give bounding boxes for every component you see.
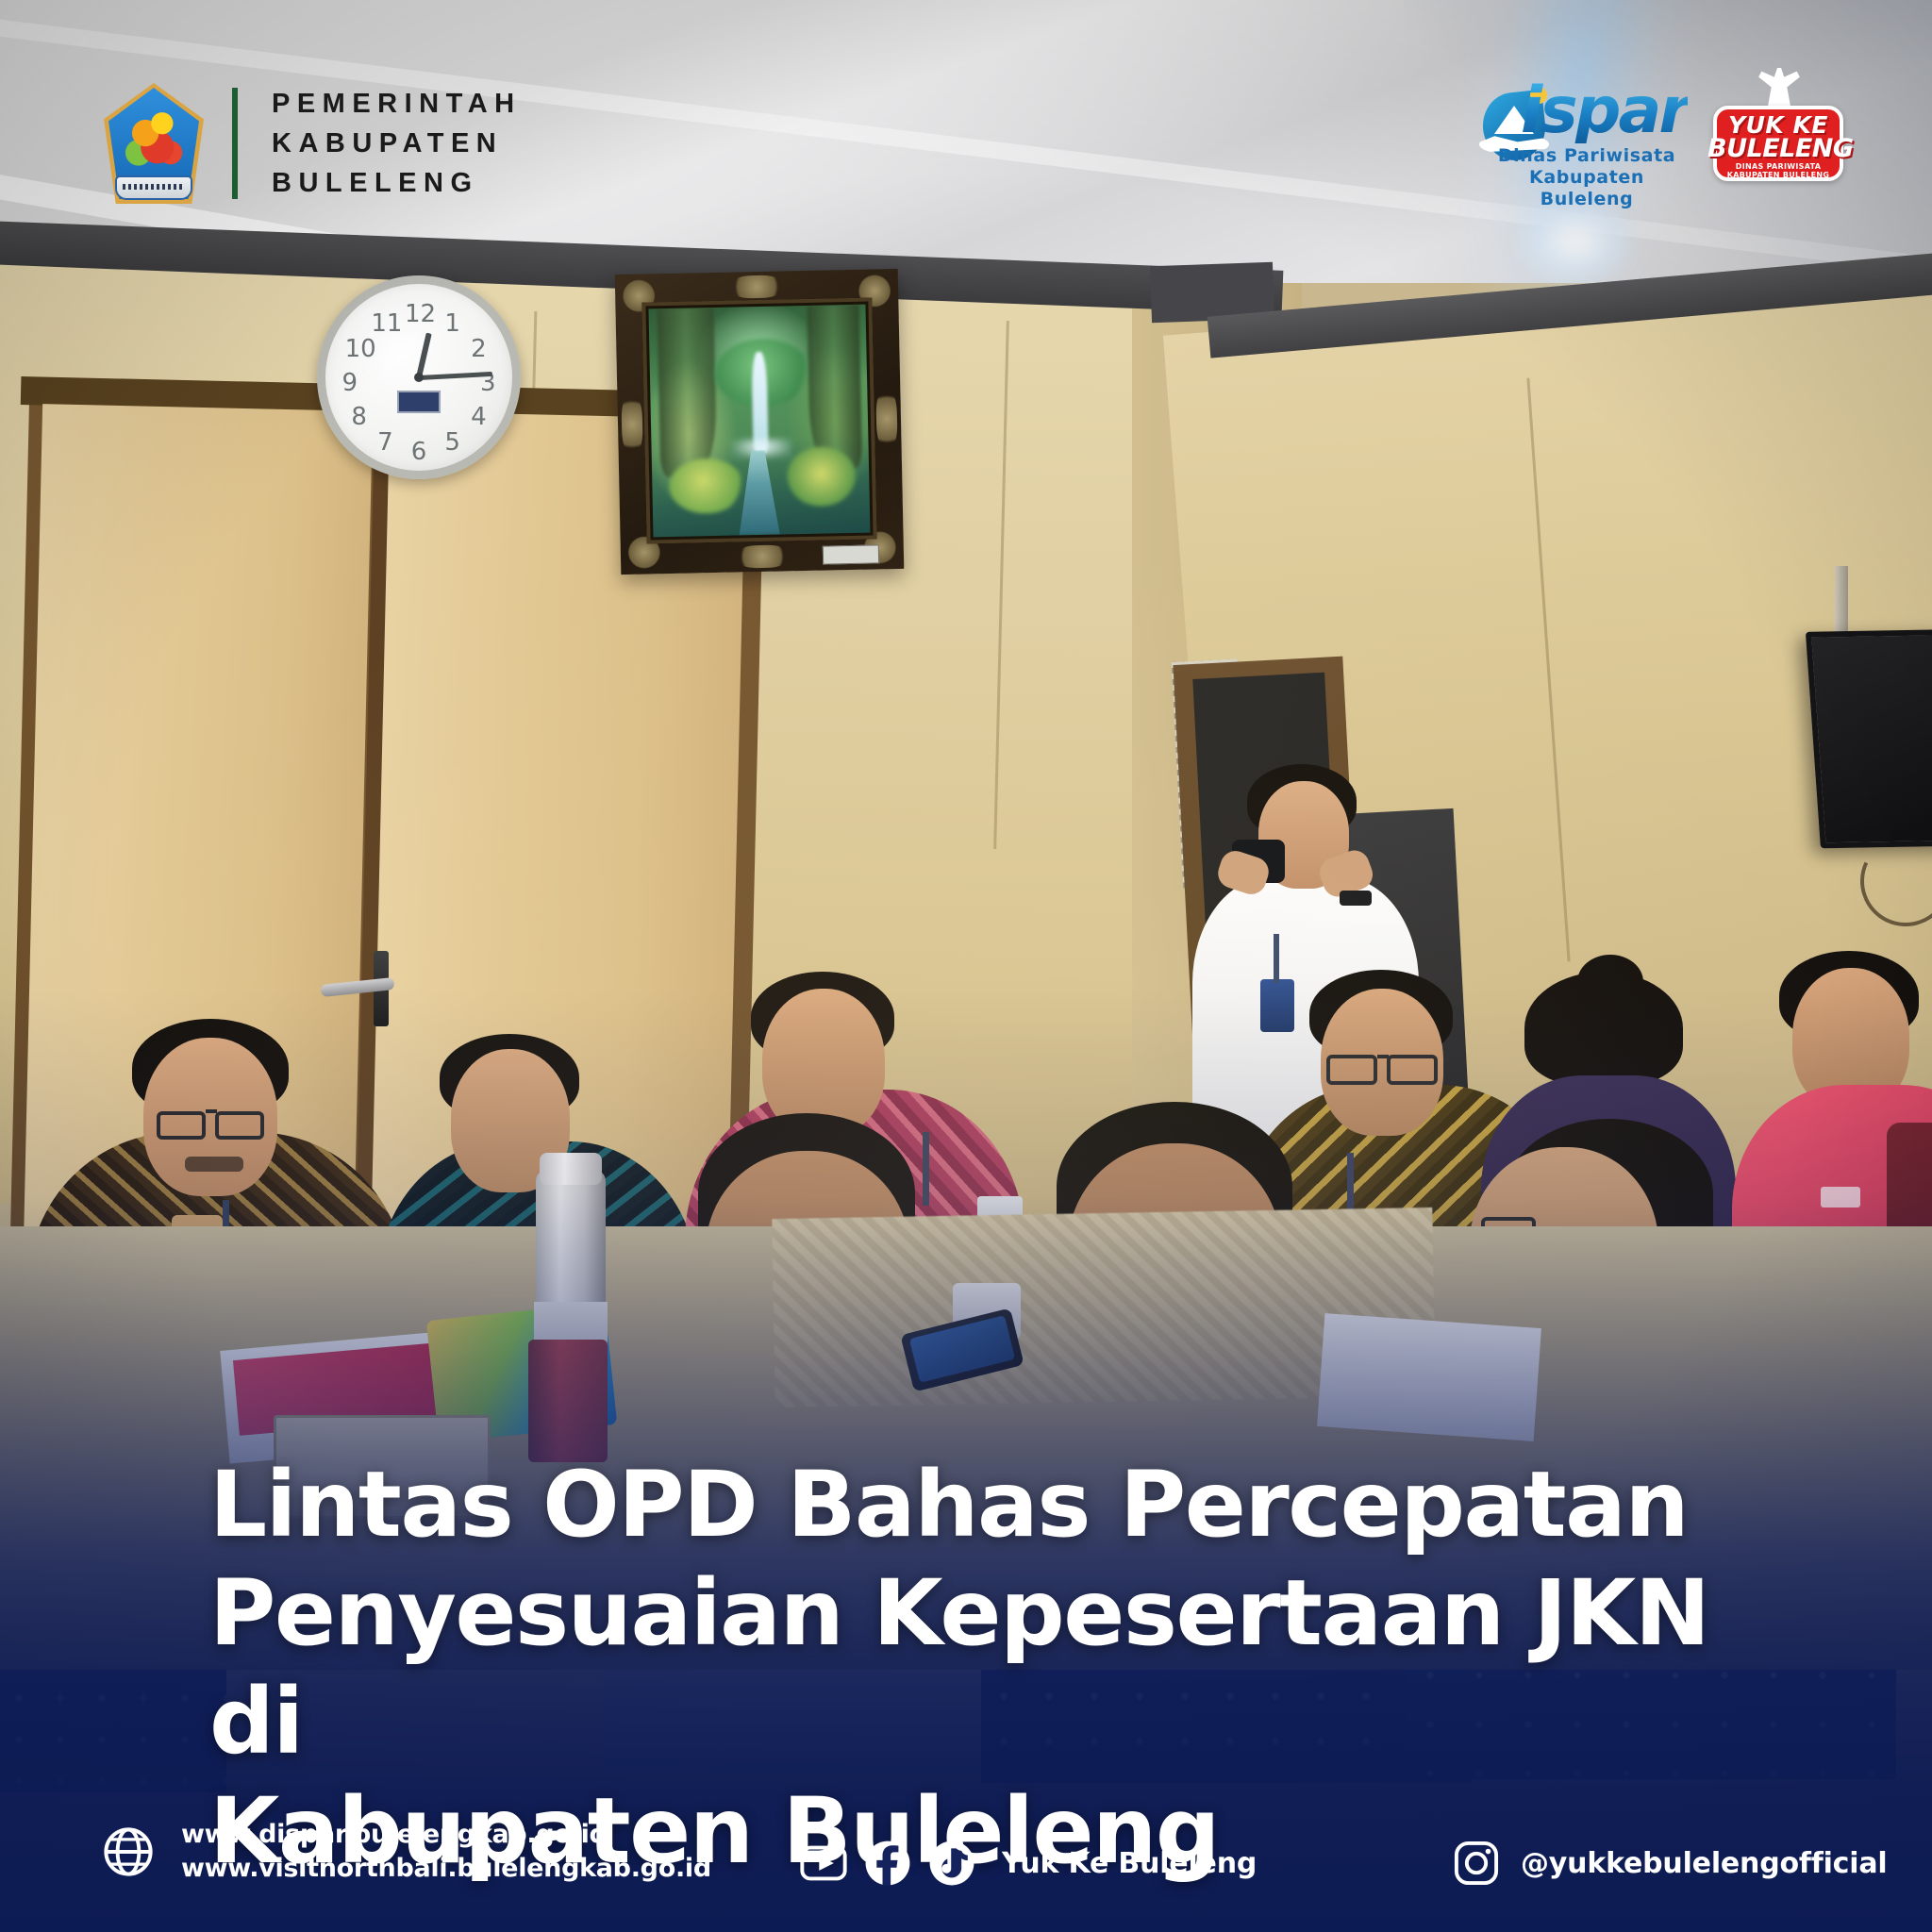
instagram-handle: @yukkebulelengofficial bbox=[1521, 1847, 1887, 1880]
painting-tree-left bbox=[658, 308, 718, 477]
yuk-ke-buleleng-logo: YUK KE BULELENG DINAS PARIWISATA KABUPAT… bbox=[1707, 68, 1849, 183]
headline-line-2: Penyesuaian Kepesertaan JKN di bbox=[209, 1559, 1757, 1776]
clock-number: 5 bbox=[439, 428, 467, 449]
gov-line-kabupaten: KABUPATEN bbox=[272, 130, 522, 158]
documents-right bbox=[1317, 1313, 1541, 1441]
frame-ornament bbox=[736, 544, 789, 568]
frame-ornament bbox=[730, 275, 783, 298]
name-tag bbox=[1821, 1187, 1860, 1207]
tv-mount bbox=[1835, 566, 1848, 641]
footer-social-group: Yuk Ke Buleleng bbox=[800, 1840, 1257, 1887]
hair-bun bbox=[1577, 955, 1643, 1009]
social-account-name: Yuk Ke Buleleng bbox=[1002, 1847, 1257, 1880]
winged-lion-icon bbox=[119, 104, 189, 174]
headline-line-1: Lintas OPD Bahas Percepatan bbox=[209, 1451, 1757, 1559]
painting-canvas bbox=[648, 305, 870, 538]
facebook-icon[interactable] bbox=[864, 1840, 911, 1887]
clock-number: 10 bbox=[345, 335, 374, 356]
lanyard bbox=[923, 1132, 929, 1206]
ykb-line3-b: KABUPATEN BULELENG bbox=[1707, 171, 1849, 179]
ykb-line2: BULELENG bbox=[1707, 134, 1849, 163]
glasses-bridge bbox=[206, 1109, 217, 1113]
clock-number: 6 bbox=[405, 438, 433, 458]
clock-number: 9 bbox=[336, 369, 364, 390]
frame-inner-bevel bbox=[641, 297, 876, 543]
clock-number: 2 bbox=[464, 335, 492, 356]
poster-footer: www.dispar.bulelengkab.go.id www.visitno… bbox=[0, 1774, 1932, 1932]
frame-ornament bbox=[875, 389, 897, 449]
framed-waterfall-painting bbox=[615, 269, 905, 575]
ykb-line3-a: DINAS PARIWISATA bbox=[1707, 162, 1849, 171]
ykb-line3: DINAS PARIWISATA KABUPATEN BULELENG bbox=[1707, 162, 1849, 179]
wall-clock: 12 1 2 3 4 5 6 7 8 9 10 11 bbox=[317, 275, 521, 479]
vertical-divider bbox=[232, 88, 238, 199]
clock-number: 8 bbox=[345, 403, 374, 424]
dispar-wordmark: ispar bbox=[1521, 79, 1688, 143]
gov-line-buleleng: BULELENG bbox=[272, 170, 522, 197]
clock-number: 1 bbox=[439, 309, 467, 330]
lanyard bbox=[1274, 934, 1279, 983]
buleleng-regency-crest-icon bbox=[104, 83, 204, 204]
glasses-bridge bbox=[1377, 1055, 1389, 1058]
frame-ornament bbox=[621, 394, 642, 455]
globe-icon bbox=[102, 1825, 155, 1878]
painting-foliage bbox=[786, 446, 857, 507]
crest-motto-scroll bbox=[117, 177, 191, 198]
footer-websites: www.dispar.bulelengkab.go.id www.visitno… bbox=[102, 1821, 711, 1883]
instagram-icon[interactable] bbox=[1453, 1840, 1500, 1887]
footer-instagram-group: @yukkebulelengofficial bbox=[1453, 1840, 1887, 1887]
wristwatch bbox=[1340, 891, 1372, 906]
youtube-icon[interactable] bbox=[800, 1840, 847, 1887]
gov-line-pemerintah: PEMERINTAH bbox=[272, 91, 522, 118]
clock-number: 4 bbox=[464, 403, 492, 424]
website-url-visitnorthbali[interactable]: www.visitnorthbali.bulelengkab.go.id bbox=[181, 1855, 711, 1883]
painting-tree-right bbox=[807, 305, 862, 470]
clock-date-window bbox=[397, 391, 441, 413]
clock-number: 11 bbox=[371, 309, 399, 330]
poster-header: PEMERINTAH KABUPATEN BULELENG ispar Dina… bbox=[0, 0, 1932, 217]
tumbler bbox=[528, 1340, 608, 1462]
bottle-cap bbox=[540, 1153, 602, 1185]
dispar-subtitle: Dinas Pariwisata Kabupaten Buleleng bbox=[1485, 145, 1689, 211]
painting-label-plate bbox=[823, 544, 879, 564]
id-badge bbox=[1260, 979, 1294, 1032]
clock-number: 7 bbox=[371, 428, 399, 449]
dispar-subtitle-line1: Dinas Pariwisata bbox=[1485, 145, 1689, 167]
moustache bbox=[185, 1157, 243, 1172]
tiktok-icon[interactable] bbox=[928, 1840, 975, 1887]
government-lockup: PEMERINTAH KABUPATEN BULELENG bbox=[104, 83, 522, 204]
painting-foliage bbox=[669, 458, 743, 514]
government-name-block: PEMERINTAH KABUPATEN BULELENG bbox=[272, 91, 522, 197]
clock-number: 12 bbox=[405, 300, 433, 321]
social-media-poster: 12 1 2 3 4 5 6 7 8 9 10 11 bbox=[0, 0, 1932, 1932]
dispar-subtitle-line2: Kabupaten Buleleng bbox=[1485, 167, 1689, 210]
dispar-logo: ispar Dinas Pariwisata Kabupaten Bulelen… bbox=[1472, 79, 1689, 181]
wall-mounted-tv bbox=[1806, 629, 1932, 849]
clock-center-pin bbox=[414, 373, 424, 382]
website-url-dispar[interactable]: www.dispar.bulelengkab.go.id bbox=[181, 1821, 711, 1849]
